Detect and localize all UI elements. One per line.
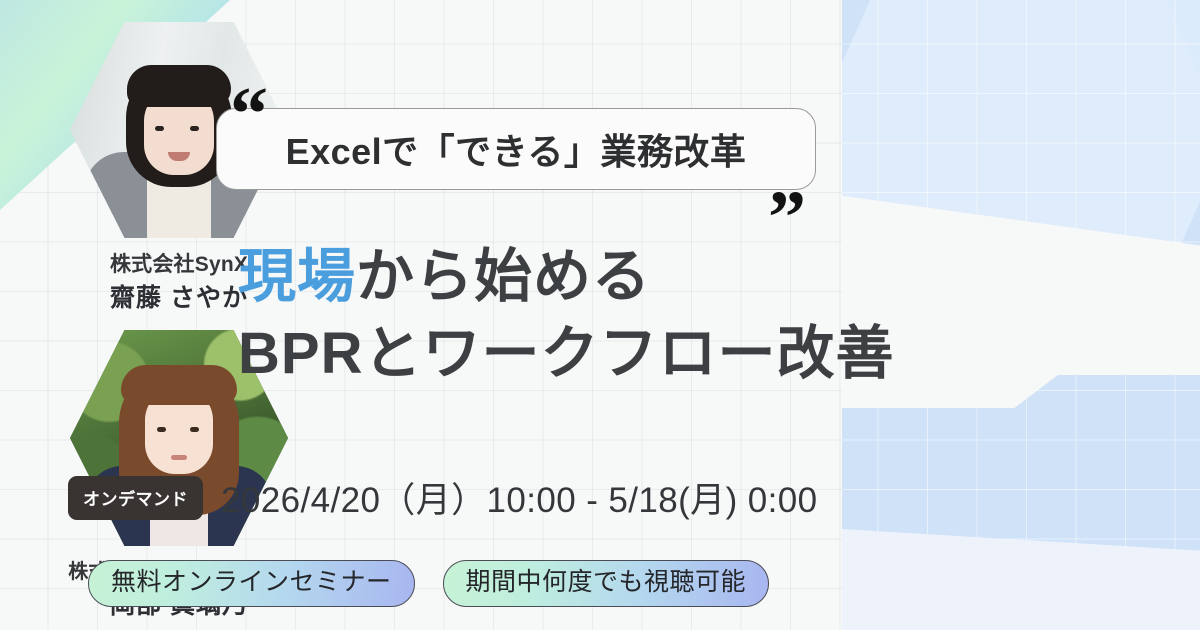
- headline-accent-word: 現場: [238, 244, 356, 309]
- ondemand-badge: オンデマンド: [68, 476, 203, 520]
- tag-unlimited-viewing: 期間中何度でも視聴可能: [443, 560, 770, 607]
- headline-line-2: BPRとワークフロー改善: [238, 317, 898, 390]
- headline-line-1: 現場から始める: [238, 240, 898, 313]
- webinar-banner: 株式会社SynX 齋藤 さやか 株式会社システムエグゼ 岡部 眞璃乃 “ Exc…: [0, 0, 1200, 630]
- headline-line-1-rest: から始める: [356, 244, 651, 309]
- quote-open-icon: “: [230, 76, 268, 152]
- main-content: “ Excelで「できる」業務改革 ” 現場から始める BPRとワークフロー改善…: [0, 0, 900, 630]
- schedule-datetime: 2026/4/20（月）10:00 - 5/18(月) 0:00: [221, 472, 817, 523]
- subtitle-text: Excelで「できる」業務改革: [286, 123, 747, 175]
- subtitle-quote-block: “ Excelで「できる」業務改革 ”: [216, 108, 816, 190]
- schedule-row: オンデマンド 2026/4/20（月）10:00 - 5/18(月) 0:00: [68, 472, 817, 523]
- subtitle-pill: Excelで「できる」業務改革: [216, 108, 816, 190]
- headline: 現場から始める BPRとワークフロー改善: [238, 240, 898, 390]
- tag-free-online-seminar: 無料オンラインセミナー: [88, 560, 415, 607]
- tag-row: 無料オンラインセミナー 期間中何度でも視聴可能: [88, 560, 769, 607]
